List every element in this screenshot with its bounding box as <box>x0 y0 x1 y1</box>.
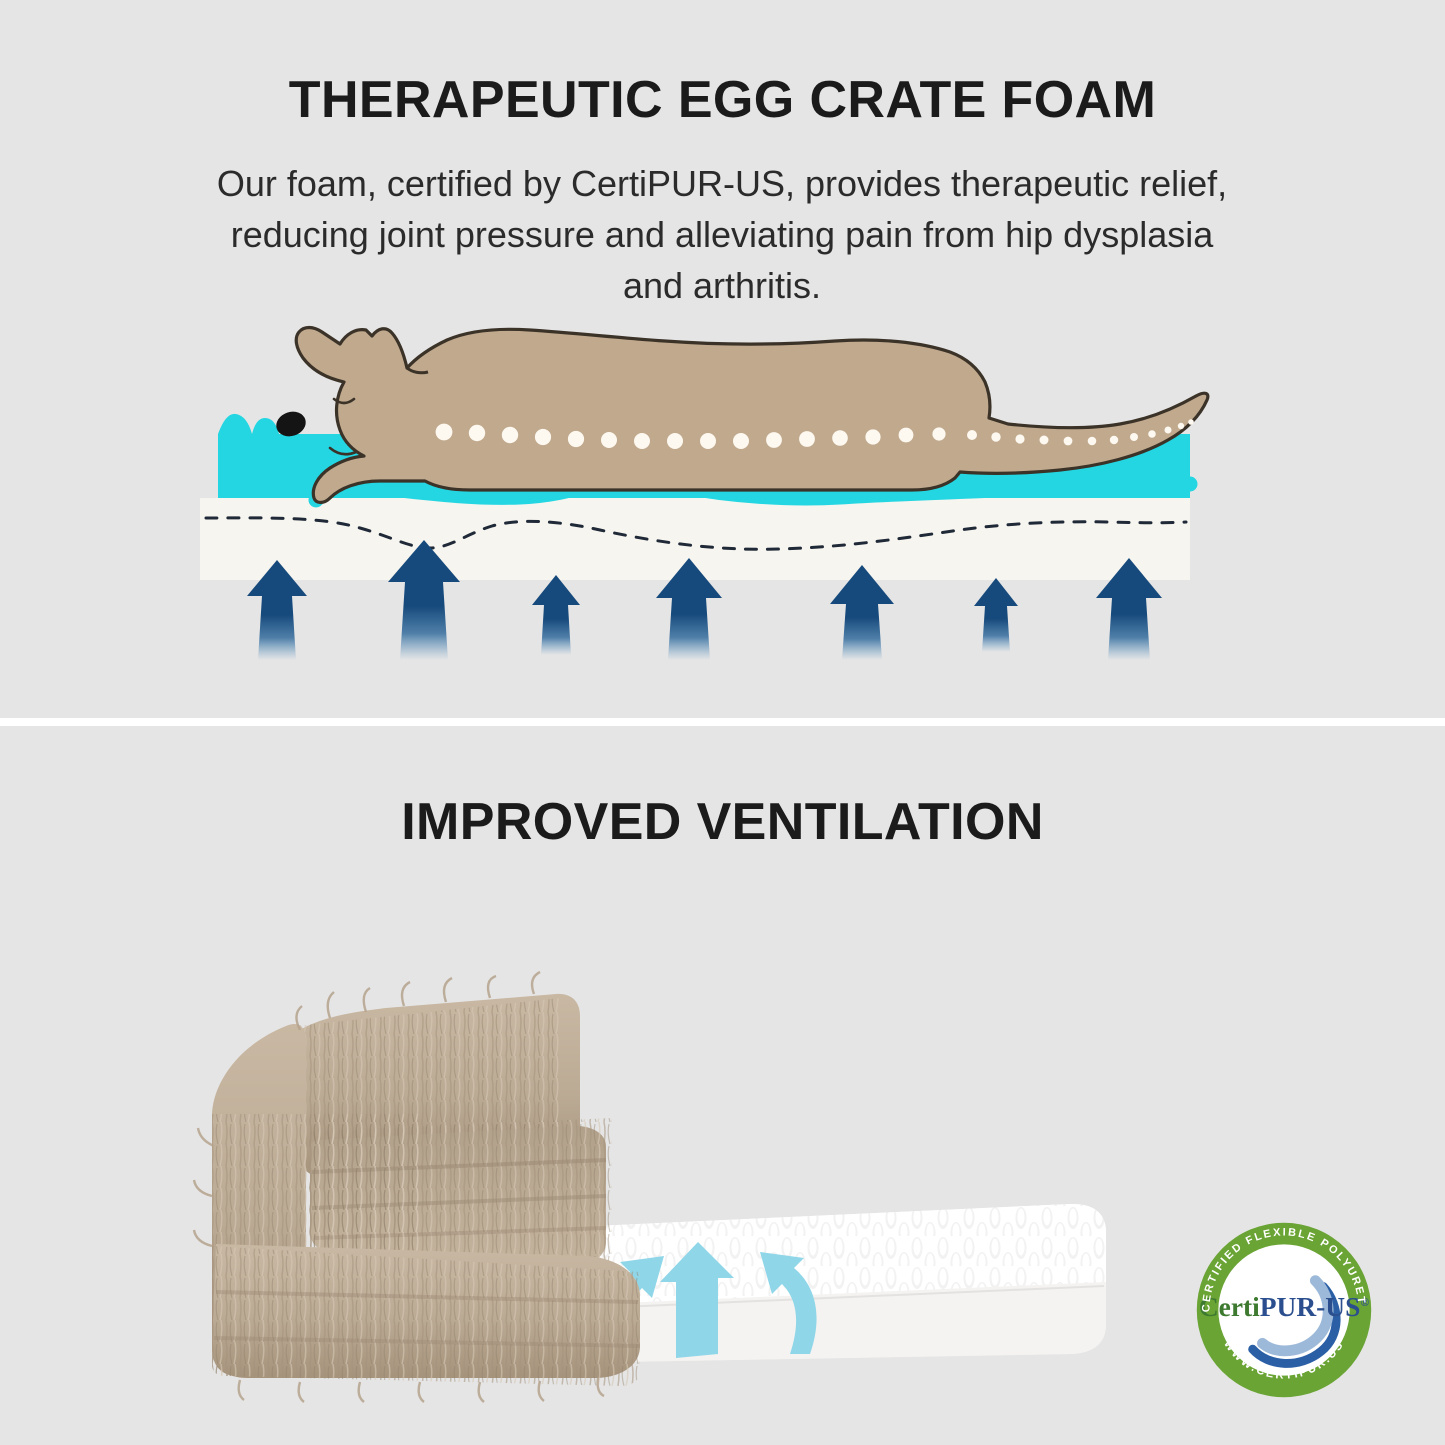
certipur-us-badge: CertiPUR-US® CONTAINS CERTIFIED FLEXIBLE… <box>1186 1212 1382 1408</box>
panel-divider <box>0 718 1445 726</box>
panel-improved-ventilation: IMPROVED VENTILATION <box>0 726 1445 1445</box>
arrow-6 <box>974 578 1018 652</box>
product-infographic: THERAPEUTIC EGG CRATE FOAM Our foam, cer… <box>0 0 1445 1445</box>
cross-section-illustration <box>0 0 1445 718</box>
panel-therapeutic-foam: THERAPEUTIC EGG CRATE FOAM Our foam, cer… <box>0 0 1445 718</box>
arrow-3 <box>532 575 580 655</box>
badge-wordmark: CertiPUR-US® <box>1199 1292 1370 1322</box>
badge-wordmark-part2: PUR-US <box>1260 1292 1361 1322</box>
